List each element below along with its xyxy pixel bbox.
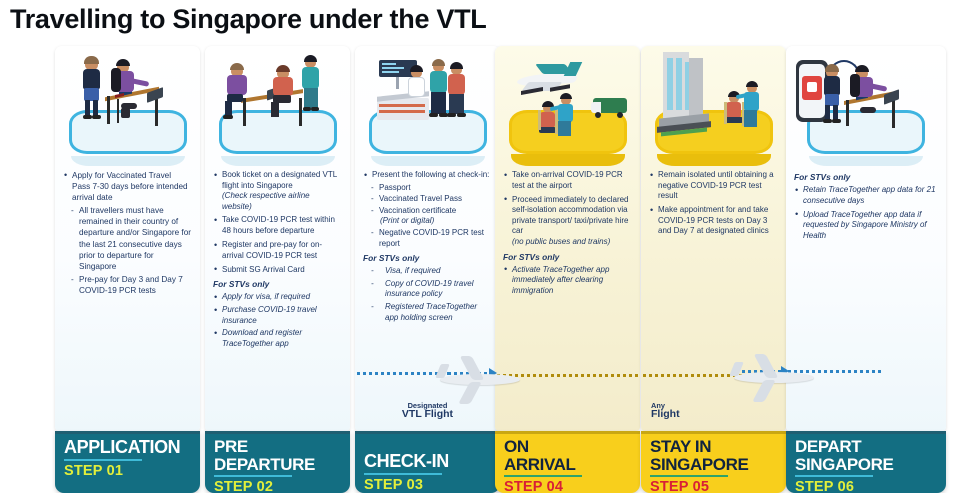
steps-container: Apply for Vaccinated Travel Pass 7-30 da… bbox=[0, 46, 960, 493]
footer-title: PRE bbox=[214, 438, 341, 456]
footer-title-2: DEPARTURE bbox=[214, 456, 341, 474]
list-item: Vaccination certificate bbox=[363, 206, 491, 217]
step-column-application[interactable]: Apply for Vaccinated Travel Pass 7-30 da… bbox=[55, 46, 200, 493]
step-column-pre-departure[interactable]: Book ticket on a designated VTL flight i… bbox=[205, 46, 350, 493]
list-item: Registered TraceTogether app holding scr… bbox=[363, 302, 491, 323]
list-item: Visa, if required bbox=[363, 266, 491, 277]
list-item: Vaccinated Travel Pass bbox=[363, 194, 491, 205]
step-body: Take on-arrival COVID-19 PCR test at the… bbox=[495, 166, 640, 305]
list-item: Register and pre-pay for on-arrival COVI… bbox=[213, 240, 341, 261]
step-body: Present the following at check-in: Passp… bbox=[355, 166, 500, 331]
list-item: Take COVID-19 PCR test within 48 hours b… bbox=[213, 215, 341, 236]
step-body: Remain isolated until obtaining a negati… bbox=[641, 166, 786, 247]
footer-title: CHECK-IN bbox=[364, 452, 491, 471]
footer-title-2: ARRIVAL bbox=[504, 456, 631, 474]
illustration-check-in bbox=[355, 46, 500, 166]
footer-rule bbox=[650, 475, 728, 477]
step-number: STEP 02 bbox=[214, 479, 341, 493]
list-item: Take on-arrival COVID-19 PCR test at the… bbox=[503, 170, 631, 191]
illustration-application bbox=[55, 46, 200, 166]
step-column-check-in[interactable]: Present the following at check-in: Passp… bbox=[355, 46, 500, 493]
step-panel: Book ticket on a designated VTL flight i… bbox=[205, 46, 350, 431]
step-column-depart-singapore[interactable]: For STVs only Retain TraceTogether app d… bbox=[786, 46, 946, 493]
footer-pre-departure[interactable]: PRE DEPARTURE STEP 02 bbox=[205, 431, 350, 493]
stv-heading: For STVs only bbox=[363, 253, 491, 264]
illustration-pre-departure bbox=[205, 46, 350, 166]
list-item: Book ticket on a designated VTL flight i… bbox=[213, 170, 341, 191]
stv-heading: For STVs only bbox=[503, 252, 631, 263]
footer-rule bbox=[214, 475, 292, 477]
list-item: Make appointment for and take COVID-19 P… bbox=[649, 205, 777, 237]
list-item: Purchase COVID-19 travel insurance bbox=[213, 305, 341, 326]
list-item: Copy of COVID-19 travel insurance policy bbox=[363, 279, 491, 300]
page-title: Travelling to Singapore under the VTL bbox=[10, 4, 486, 35]
step-number: STEP 05 bbox=[650, 479, 777, 493]
list-note: (Check respective airline website) bbox=[213, 191, 341, 212]
footer-rule bbox=[795, 475, 873, 477]
list-item: All travellers must have remained in the… bbox=[63, 205, 191, 272]
list-item: Retain TraceTogether app data for 21 con… bbox=[794, 185, 937, 206]
list-item: Download and register TraceTogether app bbox=[213, 328, 341, 349]
footer-depart[interactable]: DEPART SINGAPORE STEP 06 bbox=[786, 431, 946, 493]
step-number: STEP 01 bbox=[64, 463, 191, 479]
footer-title-2: SINGAPORE bbox=[795, 456, 937, 474]
list-item: Pre-pay for Day 3 and Day 7 COVID-19 PCR… bbox=[63, 274, 191, 296]
step-number: STEP 03 bbox=[364, 477, 491, 493]
step-number: STEP 06 bbox=[795, 479, 937, 493]
illustration-depart bbox=[786, 46, 946, 166]
step-panel: Apply for Vaccinated Travel Pass 7-30 da… bbox=[55, 46, 200, 431]
illustration-on-arrival bbox=[495, 46, 640, 166]
step-column-stay-in-singapore[interactable]: Remain isolated until obtaining a negati… bbox=[641, 46, 786, 493]
list-item: Proceed immediately to declared self-iso… bbox=[503, 195, 631, 237]
list-item: Upload TraceTogether app data if request… bbox=[794, 210, 937, 242]
footer-on-arrival[interactable]: ON ARRIVAL STEP 04 bbox=[495, 431, 640, 493]
footer-application[interactable]: APPLICATION STEP 01 bbox=[55, 431, 200, 493]
list-item: Activate TraceTogether app immediately a… bbox=[503, 265, 631, 297]
infographic-root: Travelling to Singapore under the VTL bbox=[0, 0, 960, 493]
flight-label-any: Any Flight bbox=[651, 401, 731, 419]
list-item: Apply for Vaccinated Travel Pass 7-30 da… bbox=[63, 170, 191, 203]
airplane-icon-any bbox=[724, 350, 822, 404]
step-body: For STVs only Retain TraceTogether app d… bbox=[786, 166, 946, 251]
airplane-icon-vtl bbox=[430, 352, 528, 406]
list-note: (Print or digital) bbox=[363, 216, 491, 227]
footer-rule bbox=[504, 475, 582, 477]
footer-rule bbox=[64, 459, 142, 461]
list-note: (no public buses and trains) bbox=[503, 237, 631, 248]
stv-heading: For STVs only bbox=[213, 279, 341, 290]
footer-stay[interactable]: STAY IN SINGAPORE STEP 05 bbox=[641, 431, 786, 493]
footer-title: ON bbox=[504, 438, 631, 456]
list-item: Present the following at check-in: bbox=[363, 170, 491, 181]
step-body: Apply for Vaccinated Travel Pass 7-30 da… bbox=[55, 166, 200, 304]
footer-check-in[interactable]: CHECK-IN STEP 03 bbox=[355, 431, 500, 493]
flight-label-line2: VTL Flight bbox=[355, 410, 500, 419]
stv-heading: For STVs only bbox=[794, 172, 937, 183]
list-item: Apply for visa, if required bbox=[213, 292, 341, 303]
step-column-on-arrival[interactable]: Take on-arrival COVID-19 PCR test at the… bbox=[495, 46, 640, 493]
step-number: STEP 04 bbox=[504, 479, 631, 493]
footer-title: APPLICATION bbox=[64, 438, 191, 457]
list-item: Submit SG Arrival Card bbox=[213, 265, 341, 276]
footer-rule bbox=[364, 473, 442, 475]
footer-title-2: SINGAPORE bbox=[650, 456, 777, 474]
list-item: Negative COVID-19 PCR test report bbox=[363, 228, 491, 249]
list-item: Remain isolated until obtaining a negati… bbox=[649, 170, 777, 202]
step-body: Book ticket on a designated VTL flight i… bbox=[205, 166, 350, 357]
flight-label-line2: Flight bbox=[651, 410, 731, 419]
platform-icon bbox=[219, 110, 337, 162]
footer-title: STAY IN bbox=[650, 438, 777, 456]
footer-title: DEPART bbox=[795, 438, 937, 456]
illustration-stay bbox=[641, 46, 786, 166]
list-item: Passport bbox=[363, 183, 491, 194]
